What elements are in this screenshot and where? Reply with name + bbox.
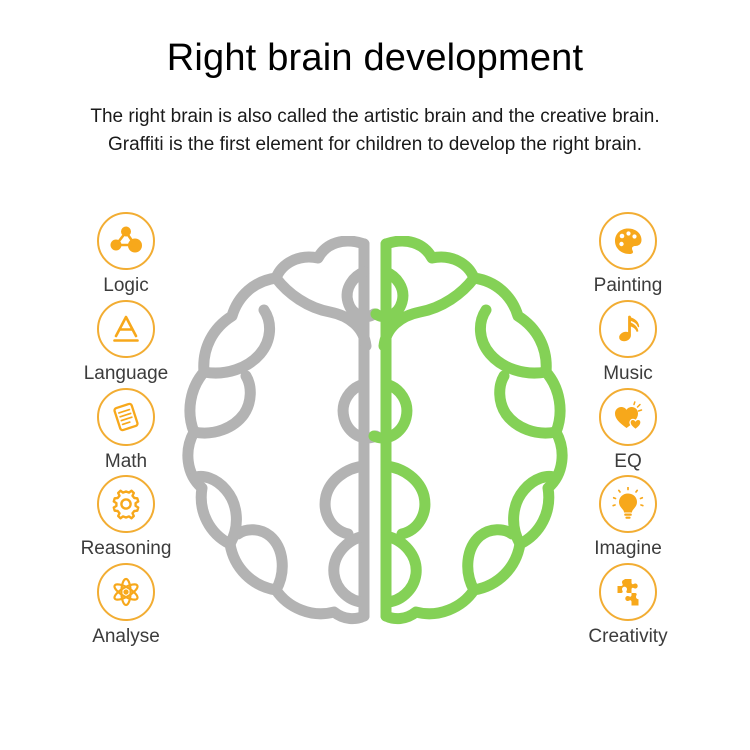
feature-analyse[interactable]: Analyse (92, 563, 160, 649)
music-note-icon (599, 300, 657, 358)
feature-reasoning[interactable]: Reasoning (81, 475, 172, 561)
hearts-icon (599, 388, 657, 446)
gear-icon (97, 475, 155, 533)
feature-label: Reasoning (81, 537, 172, 561)
page-title: Right brain development (0, 0, 750, 80)
feature-label: Creativity (588, 625, 667, 649)
feature-label: Painting (594, 274, 663, 298)
gray-brain-hemisphere (188, 241, 376, 619)
feature-math[interactable]: Math (97, 388, 155, 474)
feature-label: Logic (103, 274, 148, 298)
lightbulb-icon (599, 475, 657, 533)
feature-creativity[interactable]: Creativity (588, 563, 667, 649)
right-brain-feature-list: Painting Music (540, 212, 716, 651)
feature-imagine[interactable]: Imagine (594, 475, 662, 561)
letter-a-icon (97, 300, 155, 358)
network-nodes-icon (97, 212, 155, 270)
split-brain-illustration (168, 236, 582, 626)
feature-label: Language (84, 362, 169, 386)
feature-label: Music (603, 362, 653, 386)
feature-logic[interactable]: Logic (97, 212, 155, 298)
document-lines-icon (97, 388, 155, 446)
feature-label: Imagine (594, 537, 662, 561)
header: Right brain development The right brain … (0, 0, 750, 159)
page-subtitle: The right brain is also called the artis… (0, 80, 750, 159)
subtitle-line-2: Graffiti is the first element for childr… (0, 131, 750, 159)
puzzle-piece-icon (599, 563, 657, 621)
feature-label: Analyse (92, 625, 160, 649)
feature-label: Math (105, 450, 147, 474)
paint-palette-icon (599, 212, 657, 270)
feature-eq[interactable]: EQ (599, 388, 657, 474)
left-brain-feature-list: Logic Language (38, 212, 214, 651)
atom-icon (97, 563, 155, 621)
feature-language[interactable]: Language (84, 300, 169, 386)
feature-music[interactable]: Music (599, 300, 657, 386)
feature-painting[interactable]: Painting (594, 212, 663, 298)
infographic-page: Right brain development The right brain … (0, 0, 750, 750)
subtitle-line-1: The right brain is also called the artis… (0, 103, 750, 131)
feature-label: EQ (614, 450, 641, 474)
green-brain-hemisphere (374, 241, 562, 619)
